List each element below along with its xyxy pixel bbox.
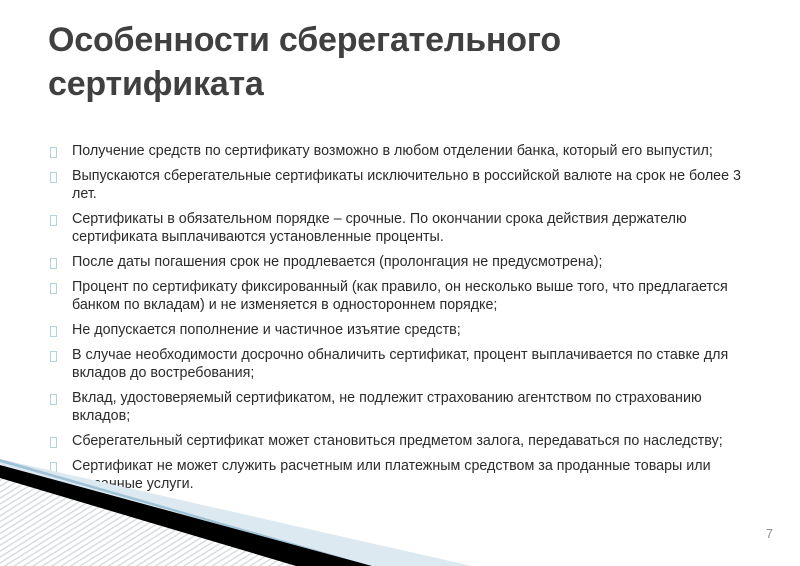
page-title: Особенности сберегательного сертификата <box>48 18 728 106</box>
hollow-square-bullet-icon <box>50 283 57 294</box>
bullet-item: Получение средств по сертификату возможн… <box>50 142 750 160</box>
bullet-item-text: После даты погашения срок не продлеваетс… <box>72 253 750 271</box>
hollow-square-bullet-icon <box>50 351 57 362</box>
bullet-item-text: Выпускаются сберегательные сертификаты и… <box>72 167 750 203</box>
hollow-square-bullet-icon <box>50 215 57 226</box>
bullet-item-text: Сертификаты в обязательном порядке – сро… <box>72 210 750 246</box>
hollow-square-bullet-icon <box>50 462 57 473</box>
bullet-item: Вклад, удостоверяемый сертификатом, не п… <box>50 389 750 425</box>
bullet-item-text: Вклад, удостоверяемый сертификатом, не п… <box>72 389 750 425</box>
bullet-item-text: Процент по сертификату фиксированный (ка… <box>72 278 750 314</box>
hollow-square-bullet-icon <box>50 437 57 448</box>
bullet-item: Сберегательный сертификат может становит… <box>50 432 750 450</box>
hollow-square-bullet-icon <box>50 326 57 337</box>
bullet-item-text: В случае необходимости досрочно обналичи… <box>72 346 750 382</box>
bullet-item-text: Не допускается пополнение и частичное из… <box>72 321 750 339</box>
presentation-slide: Особенности сберегательного сертификата … <box>0 0 800 566</box>
bullet-item: Процент по сертификату фиксированный (ка… <box>50 278 750 314</box>
bullet-item-text: Сберегательный сертификат может становит… <box>72 432 750 450</box>
bullet-item: Не допускается пополнение и частичное из… <box>50 321 750 339</box>
bullet-list: Получение средств по сертификату возможн… <box>50 142 750 500</box>
bullet-item: Выпускаются сберегательные сертификаты и… <box>50 167 750 203</box>
bullet-item: После даты погашения срок не продлеваетс… <box>50 253 750 271</box>
bullet-item: В случае необходимости досрочно обналичи… <box>50 346 750 382</box>
hollow-square-bullet-icon <box>50 258 57 269</box>
hollow-square-bullet-icon <box>50 394 57 405</box>
page-number: 7 <box>766 526 773 541</box>
bullet-item-text: Получение средств по сертификату возможн… <box>72 142 750 160</box>
bullet-item: Сертификат не может служить расчетным ил… <box>50 457 750 493</box>
bullet-item: Сертификаты в обязательном порядке – сро… <box>50 210 750 246</box>
bullet-item-text: Сертификат не может служить расчетным ил… <box>72 457 750 493</box>
hollow-square-bullet-icon <box>50 172 57 183</box>
hollow-square-bullet-icon <box>50 147 57 158</box>
